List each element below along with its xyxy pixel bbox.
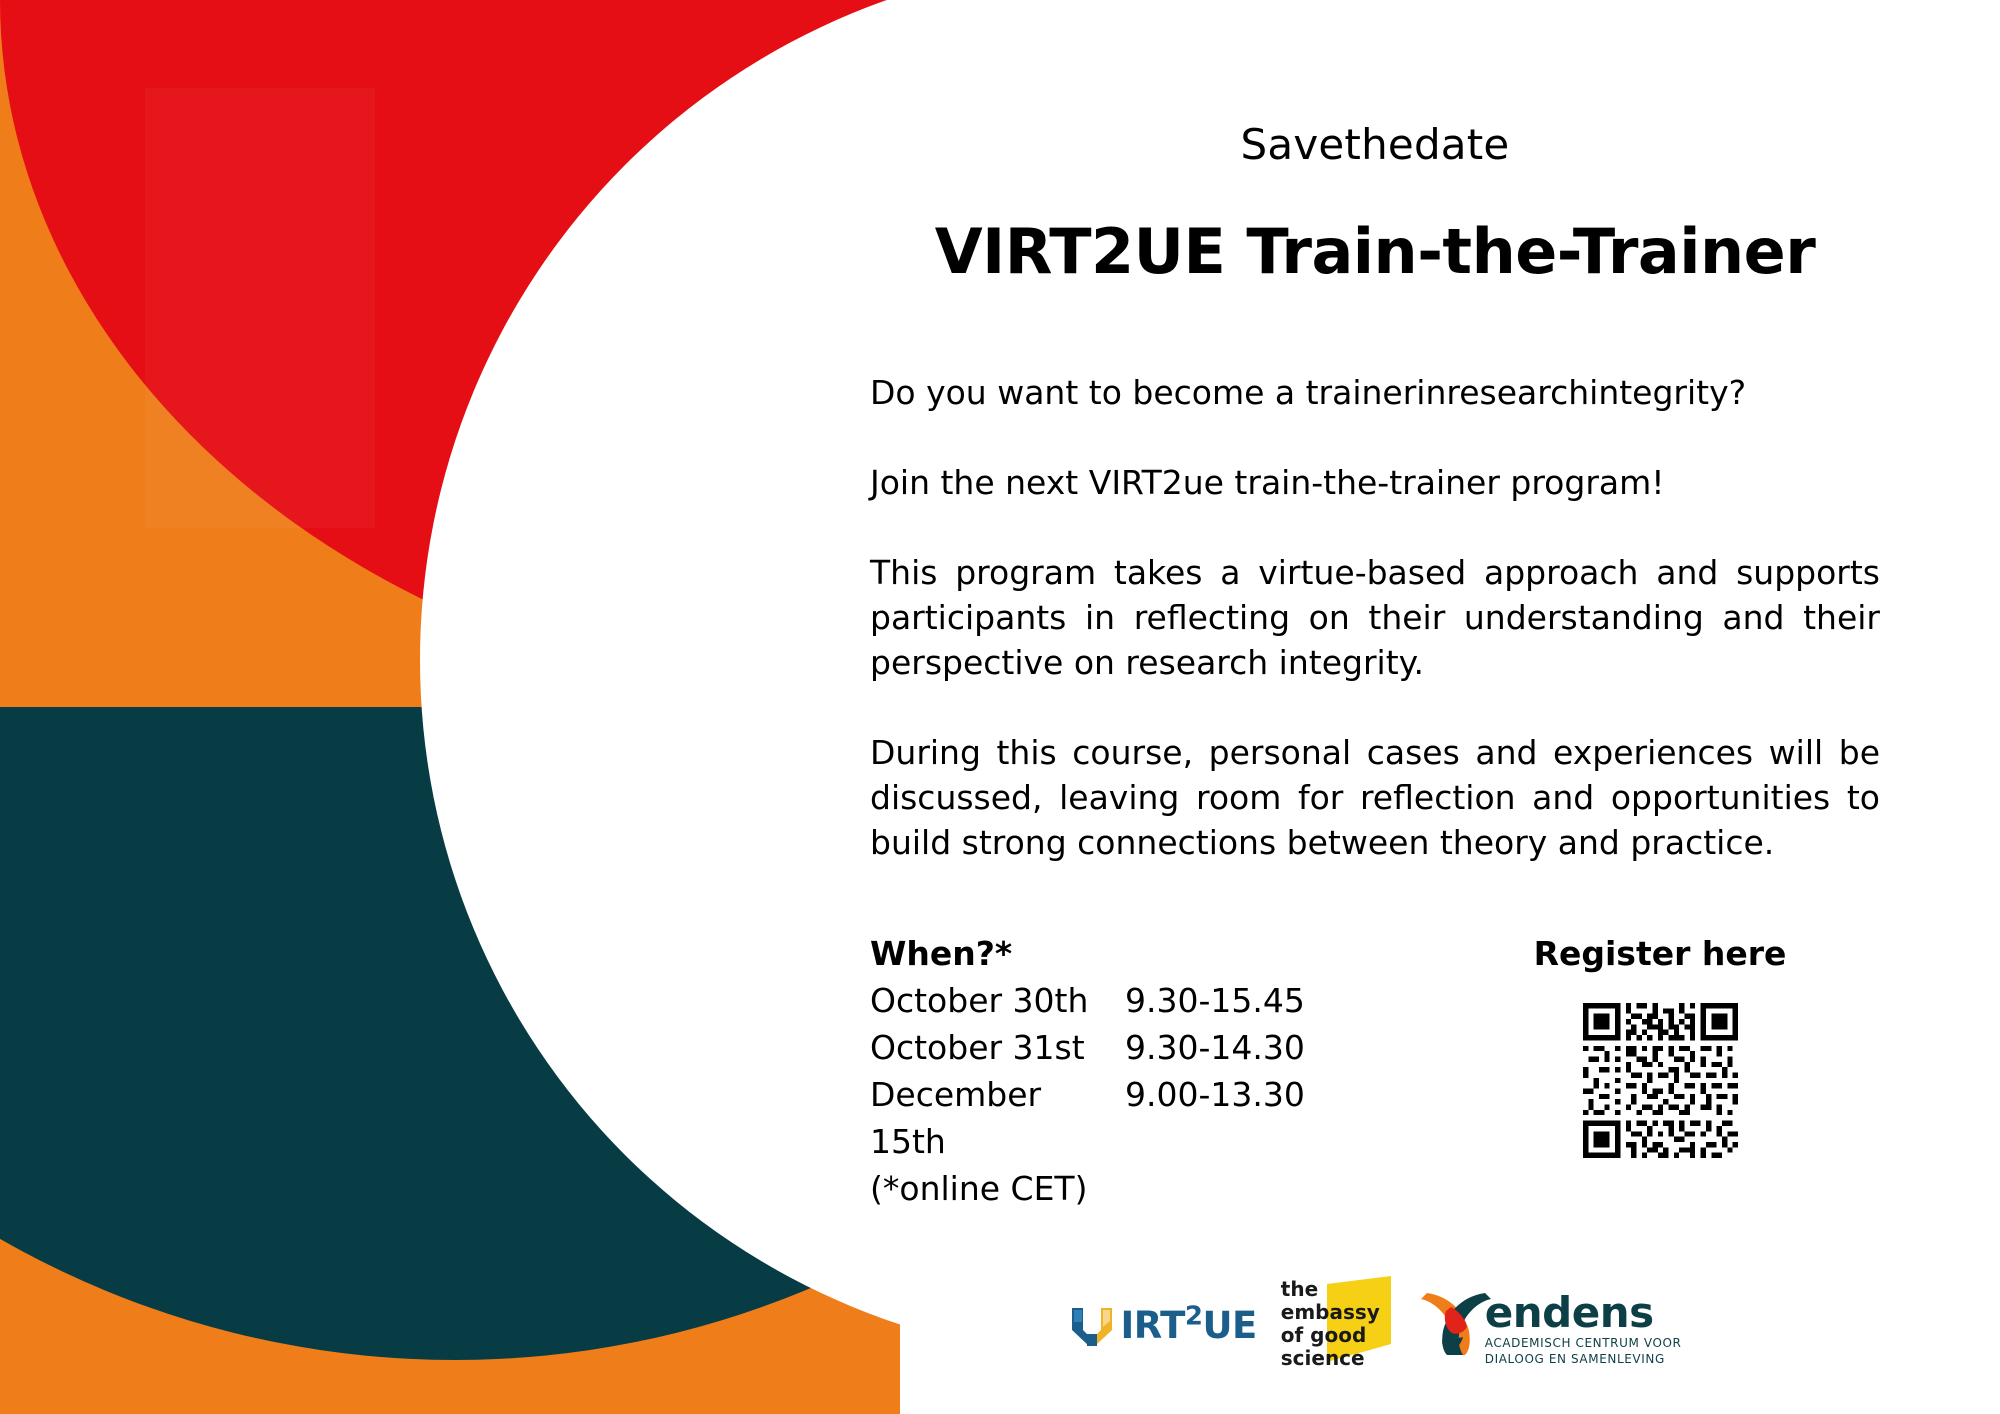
- virt2ue-wordmark: IRT2UE: [1121, 1307, 1257, 1344]
- partner-logos: IRT2UE the embassy of good science: [870, 1265, 1880, 1385]
- save-the-date-kicker: Savethedate: [870, 120, 1880, 169]
- embassy-wordmark: the embassy of good science: [1281, 1278, 1380, 1370]
- paragraph-join-invite: Join the next VIRT2ue train-the-trainer …: [870, 460, 1880, 505]
- schedule-and-register-row: When?* October 30th 9.30-15.45 October 3…: [870, 930, 1880, 1190]
- when-block: When?* October 30th 9.30-15.45 October 3…: [870, 930, 1390, 1212]
- register-block: Register here: [1440, 930, 1880, 1158]
- xendens-wordmark: endens ACADEMISCH CENTRUM VOOR DIALOOG E…: [1485, 1283, 1682, 1368]
- qr-code[interactable]: [1583, 1003, 1738, 1158]
- paragraph-course-description: During this course, personal cases and e…: [870, 730, 1880, 865]
- logo-xendens: endens ACADEMISCH CENTRUM VOOR DIALOOG E…: [1419, 1283, 1682, 1368]
- schedule-row: October 31st 9.30-14.30: [870, 1024, 1390, 1071]
- logo-embassy-of-good-science: the embassy of good science: [1279, 1274, 1397, 1376]
- schedule-time: 9.30-15.45: [1125, 977, 1305, 1024]
- poster-content: Savethedate VIRT2UE Train-the-Trainer Do…: [870, 0, 2000, 1414]
- logo-virt2ue: IRT2UE: [1069, 1300, 1257, 1350]
- schedule-date: October 31st: [870, 1024, 1125, 1071]
- schedule-date: October 30th: [870, 977, 1125, 1024]
- page-title: VIRT2UE Train-the-Trainer: [870, 215, 1880, 288]
- body-copy: Do you want to become a trainerinresearc…: [870, 370, 1880, 865]
- embassy-line-2: embassy: [1281, 1301, 1380, 1324]
- when-heading: When?*: [870, 930, 1390, 977]
- schedule-timezone-note: (*online CET): [870, 1165, 1390, 1212]
- background-red-tint-rectangle: [145, 88, 375, 528]
- schedule-time: 9.00-13.30: [1125, 1071, 1305, 1165]
- virt2ue-mark-icon: [1069, 1300, 1115, 1350]
- schedule-row: December 15th 9.00-13.30: [870, 1071, 1390, 1165]
- xendens-tagline-line-2: DIALOOG EN SAMENLEVING: [1485, 1351, 1682, 1367]
- embassy-line-4: science: [1281, 1347, 1380, 1370]
- embassy-line-3: of good: [1281, 1324, 1380, 1347]
- paragraph-program-description: This program takes a virtue-based approa…: [870, 550, 1880, 685]
- xendens-name: endens: [1485, 1293, 1682, 1333]
- xendens-tagline-line-1: ACADEMISCH CENTRUM VOOR: [1485, 1335, 1682, 1351]
- embassy-line-1: the: [1281, 1278, 1380, 1301]
- xendens-mark-icon: [1419, 1287, 1493, 1359]
- poster-canvas: Savethedate VIRT2UE Train-the-Trainer Do…: [0, 0, 2000, 1414]
- paragraph-intro-question: Do you want to become a trainerinresearc…: [870, 370, 1880, 415]
- schedule-date: December 15th: [870, 1071, 1125, 1165]
- register-heading: Register here: [1440, 930, 1880, 977]
- schedule-row: October 30th 9.30-15.45: [870, 977, 1390, 1024]
- schedule-time: 9.30-14.30: [1125, 1024, 1305, 1071]
